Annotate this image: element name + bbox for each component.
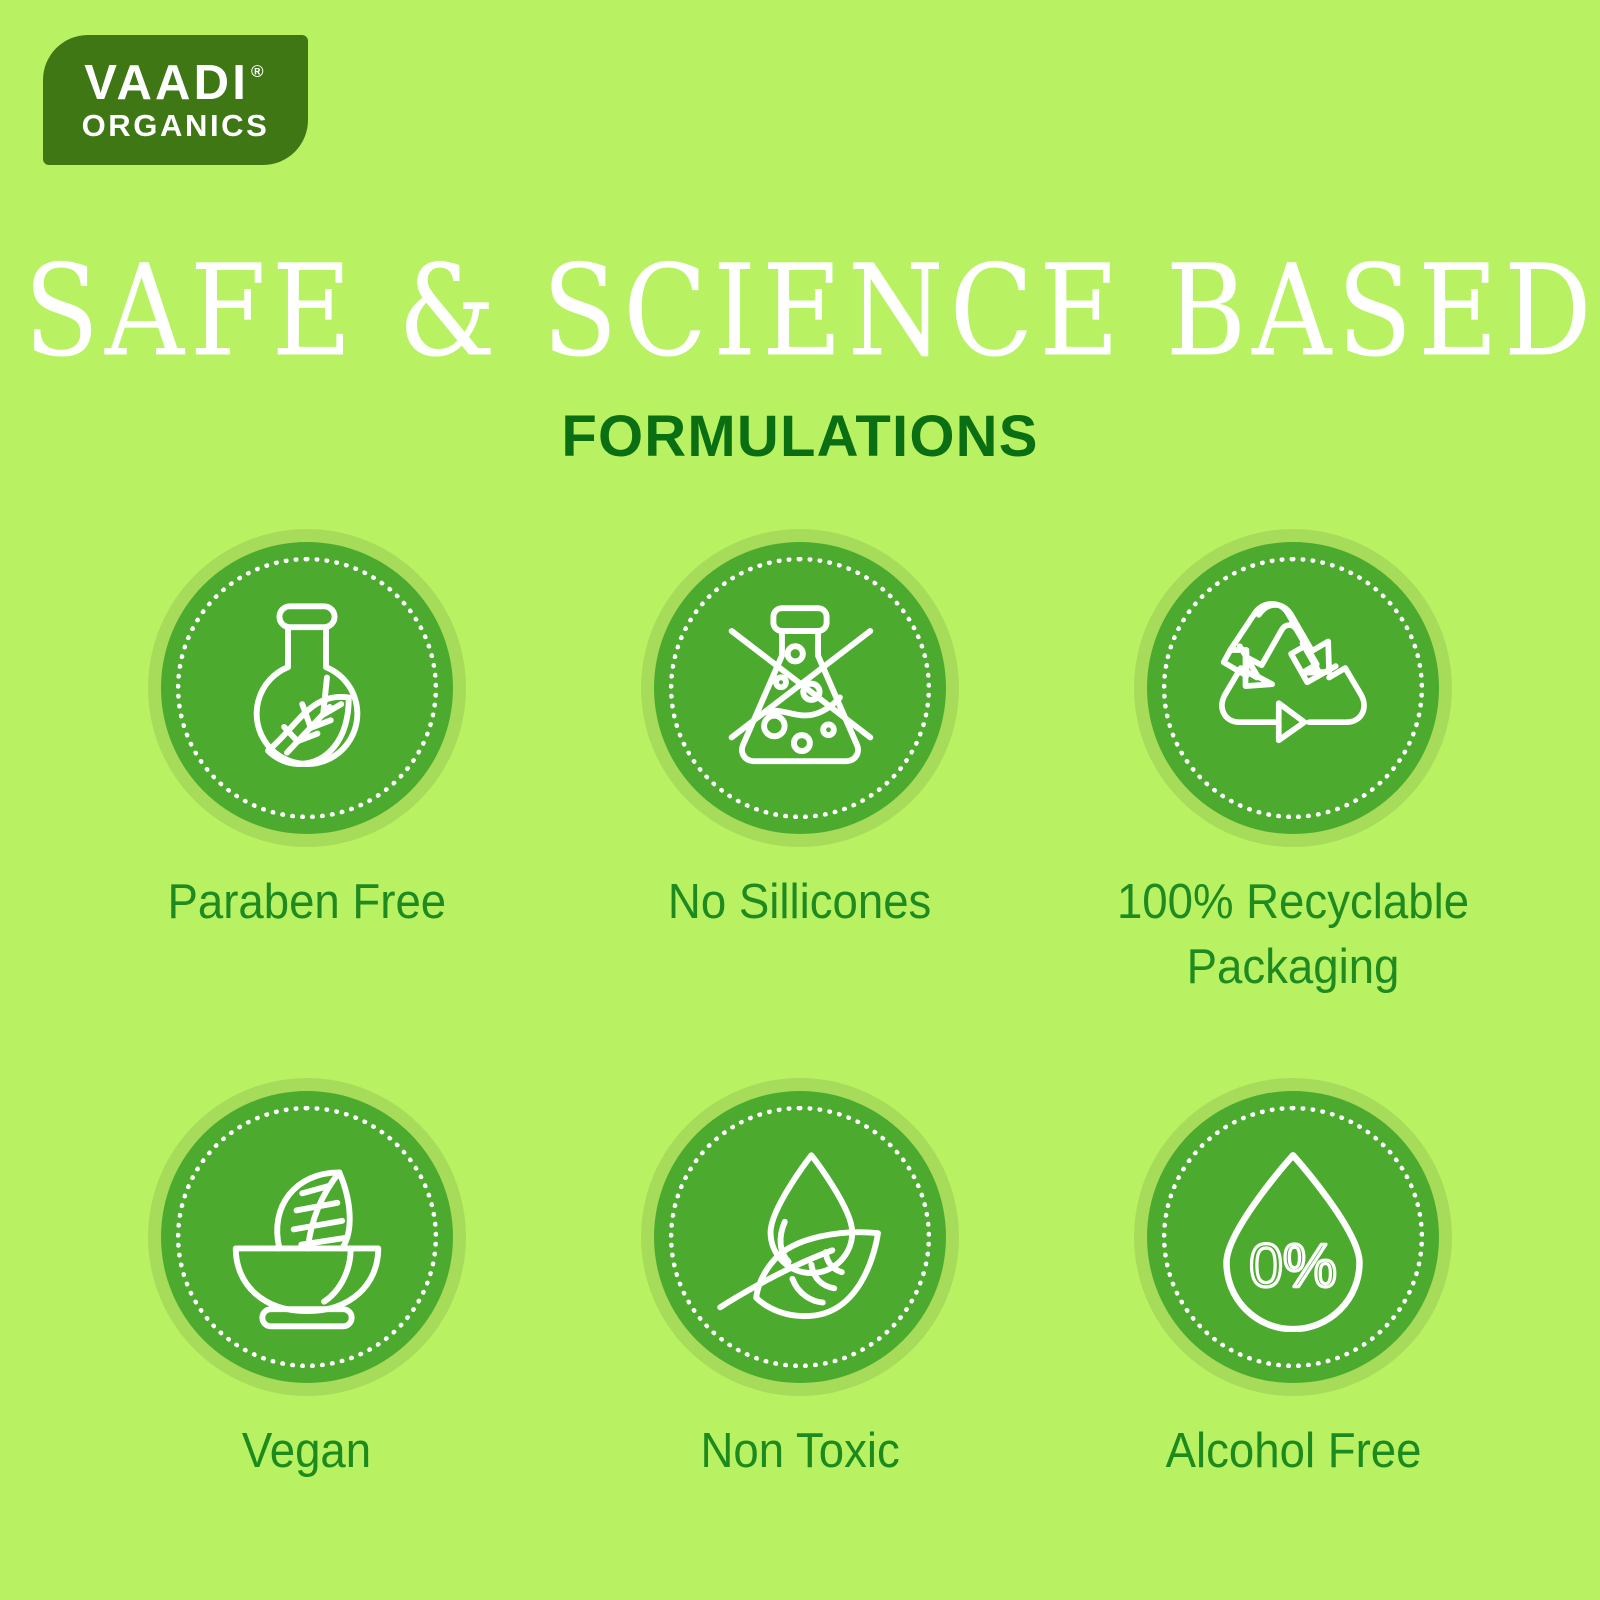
droplet-zero-percent-icon: 0% [1198, 1142, 1388, 1332]
bowl-leaf-icon [212, 1142, 402, 1332]
brand-name-row: VAADI ® [84, 59, 267, 107]
recycle-icon [1198, 593, 1388, 783]
feature-label: Paraben Free [167, 870, 446, 935]
feature-label: Alcohol Free [1165, 1419, 1421, 1484]
feature-label: 100% Recyclable Packaging [1089, 870, 1498, 999]
brand-logo: VAADI ® ORGANICS [43, 35, 308, 165]
droplet-leaf-icon [705, 1142, 895, 1332]
badge-disc [654, 1091, 946, 1383]
badge-disc [654, 542, 946, 834]
feature-badge [147, 1077, 467, 1397]
feature-item: Non Toxic [553, 1077, 1046, 1484]
badge-disc: 0% [1147, 1091, 1439, 1383]
feature-item: 0% Alcohol Free [1047, 1077, 1540, 1484]
feature-item: 100% Recyclable Packaging [1047, 528, 1540, 999]
badge-disc [161, 542, 453, 834]
feature-label: Vegan [242, 1419, 371, 1484]
feature-grid: Paraben Free [60, 528, 1540, 1484]
feature-label: No Sillicones [668, 870, 931, 935]
page-subtitle: FORMULATIONS [0, 408, 1600, 466]
feature-item: Paraben Free [60, 528, 553, 999]
brand-tagline: ORGANICS [82, 107, 270, 146]
feature-badge [1133, 528, 1453, 848]
feature-label: Non Toxic [700, 1419, 899, 1484]
badge-disc [1147, 542, 1439, 834]
registered-trademark-icon: ® [251, 63, 267, 80]
zero-percent-text: 0% [1249, 1232, 1337, 1300]
feature-badge [640, 1077, 960, 1397]
feature-badge: 0% [1133, 1077, 1453, 1397]
feature-item: Vegan [60, 1077, 553, 1484]
page-title: SAFE & SCIENCE BASED [24, 248, 1576, 375]
brand-name: VAADI [84, 59, 249, 107]
no-silicones-flask-icon [705, 593, 895, 783]
feature-item: No Sillicones [553, 528, 1046, 999]
feature-badge [640, 528, 960, 848]
badge-disc [161, 1091, 453, 1383]
feature-badge [147, 528, 467, 848]
flask-leaf-icon [212, 593, 402, 783]
